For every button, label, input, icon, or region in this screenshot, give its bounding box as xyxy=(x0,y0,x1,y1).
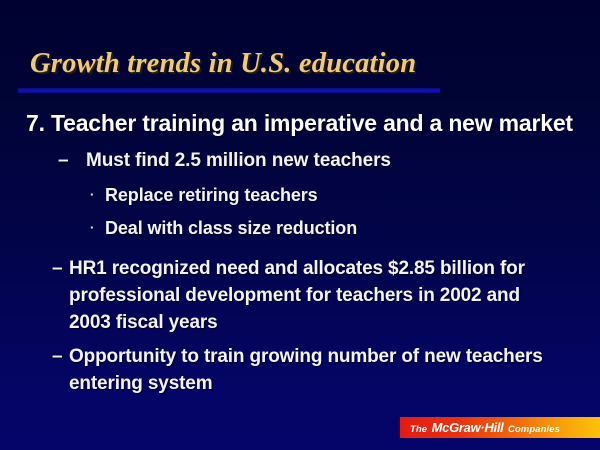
mcgraw-hill-logo-bar: The McGraw·Hill Companies xyxy=(400,417,600,438)
mcgraw-hill-logo-text: The McGraw·Hill Companies xyxy=(410,419,560,438)
dot-bullet-icon: · xyxy=(90,187,105,202)
logo-word-companies: Companies xyxy=(508,424,560,435)
dash-bullet-icon: – xyxy=(52,343,69,370)
slide-title-block: Growth trends in U.S. education xyxy=(0,48,600,96)
slide-heading: 7. Teacher training an imperative and a … xyxy=(26,110,573,137)
bullet-text: HR1 recognized need and allocates $2.85 … xyxy=(69,255,564,336)
logo-word-mcgraw-hill: McGraw·Hill xyxy=(432,420,504,435)
presentation-slide: Growth trends in U.S. education 7. Teach… xyxy=(0,0,600,450)
dash-bullet-icon: – xyxy=(58,150,86,172)
bullet-level2-replace-retiring: ·Replace retiring teachers xyxy=(90,185,318,206)
bullet-level2-class-size: ·Deal with class size reduction xyxy=(90,218,357,239)
bullet-level1-must-find: –Must find 2.5 million new teachers xyxy=(58,150,391,172)
bullet-text: Opportunity to train growing number of n… xyxy=(69,343,577,397)
dot-bullet-icon: · xyxy=(90,220,105,235)
bullet-text: Replace retiring teachers xyxy=(105,185,318,205)
bullet-level1-opportunity-train: – Opportunity to train growing number of… xyxy=(52,343,577,397)
dash-bullet-icon: – xyxy=(52,255,69,282)
bullet-level1-hr1-funding: – HR1 recognized need and allocates $2.8… xyxy=(52,255,564,336)
title-divider-rule xyxy=(18,88,440,93)
slide-title: Growth trends in U.S. education xyxy=(30,48,416,80)
logo-word-the: The xyxy=(410,424,427,435)
bullet-text: Must find 2.5 million new teachers xyxy=(86,150,391,171)
bullet-text: Deal with class size reduction xyxy=(105,218,357,238)
